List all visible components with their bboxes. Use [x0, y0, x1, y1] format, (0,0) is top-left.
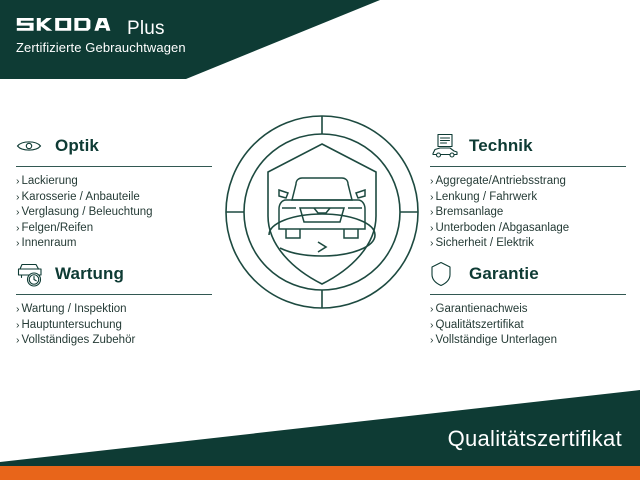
- list-item-label: Hauptuntersuchung: [22, 319, 122, 331]
- section-header-technik: Technik: [430, 131, 626, 161]
- list-item: ›Innenraum: [16, 236, 212, 252]
- column-left-optik: Optik ›Lackierung ›Karosserie / Anbautei…: [16, 131, 212, 252]
- chevron-right-icon: ›: [16, 237, 20, 249]
- list-item: ›Sicherheit / Elektrik: [430, 236, 626, 252]
- section-rule: [430, 294, 626, 295]
- eye-icon: [16, 132, 46, 160]
- certificate-title: Qualitätszertifikat: [448, 426, 622, 452]
- shield-car-circles-emblem: [222, 112, 422, 312]
- list-item: ›Bremsanlage: [430, 205, 626, 221]
- section-title-optik: Optik: [55, 136, 99, 156]
- list-item-label: Garantienachweis: [436, 303, 528, 315]
- certificate-page: Plus Zertifizierte Gebrauchtwagen Optik: [0, 0, 640, 480]
- chevron-right-icon: ›: [16, 175, 20, 187]
- list-item: ›Garantienachweis: [430, 302, 626, 318]
- section-rule: [16, 166, 212, 167]
- list-item: ›Lenkung / Fahrwerk: [430, 190, 626, 206]
- chevron-right-icon: ›: [430, 191, 434, 203]
- list-wartung: ›Wartung / Inspektion ›Hauptuntersuchung…: [16, 302, 212, 349]
- shield-icon: [430, 260, 460, 288]
- list-item: ›Aggregate/Antriebsstrang: [430, 174, 626, 190]
- list-item-label: Felgen/Reifen: [22, 222, 94, 234]
- chevron-right-icon: ›: [16, 303, 20, 315]
- column-right-garantie: Garantie ›Garantienachweis ›Qualitätszer…: [430, 259, 626, 349]
- column-left-wartung: Wartung ›Wartung / Inspektion ›Hauptunte…: [16, 259, 212, 349]
- section-title-garantie: Garantie: [469, 264, 539, 284]
- chevron-right-icon: ›: [430, 334, 434, 346]
- list-item-label: Karosserie / Anbauteile: [22, 191, 140, 203]
- section-header-optik: Optik: [16, 131, 212, 161]
- list-item: ›Vollständiges Zubehör: [16, 333, 212, 349]
- section-wartung: Wartung ›Wartung / Inspektion ›Hauptunte…: [16, 259, 212, 349]
- chevron-right-icon: ›: [430, 319, 434, 331]
- list-item: ›Unterboden /Abgasanlage: [430, 221, 626, 237]
- list-item-label: Vollständiges Zubehör: [22, 334, 136, 346]
- chevron-right-icon: ›: [16, 334, 20, 346]
- chevron-right-icon: ›: [16, 222, 20, 234]
- list-item: ›Wartung / Inspektion: [16, 302, 212, 318]
- list-technik: ›Aggregate/Antriebsstrang ›Lenkung / Fah…: [430, 174, 626, 252]
- section-title-wartung: Wartung: [55, 264, 124, 284]
- section-header-garantie: Garantie: [430, 259, 626, 289]
- chevron-right-icon: ›: [16, 319, 20, 331]
- list-item-label: Aggregate/Antriebsstrang: [436, 175, 566, 187]
- list-item: ›Verglasung / Beleuchtung: [16, 205, 212, 221]
- chevron-right-icon: ›: [16, 191, 20, 203]
- chevron-right-icon: ›: [430, 237, 434, 249]
- chevron-right-icon: ›: [430, 206, 434, 218]
- car-service-icon: [16, 260, 46, 288]
- section-title-technik: Technik: [469, 136, 533, 156]
- section-rule: [430, 166, 626, 167]
- chevron-right-icon: ›: [430, 175, 434, 187]
- brand-suffix: Plus: [127, 19, 165, 38]
- section-rule: [16, 294, 212, 295]
- list-item-label: Vollständige Unterlagen: [436, 334, 557, 346]
- list-item-label: Wartung / Inspektion: [22, 303, 127, 315]
- list-item: ›Hauptuntersuchung: [16, 318, 212, 334]
- chevron-right-icon: ›: [430, 303, 434, 315]
- brand-tagline: Zertifizierte Gebrauchtwagen: [16, 40, 336, 56]
- section-header-wartung: Wartung: [16, 259, 212, 289]
- list-garantie: ›Garantienachweis ›Qualitätszertifikat ›…: [430, 302, 626, 349]
- list-optik: ›Lackierung ›Karosserie / Anbauteile ›Ve…: [16, 174, 212, 252]
- list-item-label: Qualitätszertifikat: [436, 319, 524, 331]
- brand-line-primary: Plus: [16, 14, 336, 36]
- column-right-technik: Technik ›Aggregate/Antriebsstrang ›Lenku…: [430, 131, 626, 252]
- list-item-label: Unterboden /Abgasanlage: [436, 222, 570, 234]
- skoda-wordmark: [16, 14, 120, 39]
- list-item-label: Bremsanlage: [436, 206, 504, 218]
- list-item: ›Felgen/Reifen: [16, 221, 212, 237]
- list-item: ›Vollständige Unterlagen: [430, 333, 626, 349]
- brand-block: Plus Zertifizierte Gebrauchtwagen: [16, 14, 336, 56]
- footer-orange-bar: [0, 466, 640, 480]
- list-item-label: Lenkung / Fahrwerk: [436, 191, 538, 203]
- list-item-label: Verglasung / Beleuchtung: [22, 206, 153, 218]
- list-item: ›Lackierung: [16, 174, 212, 190]
- chevron-right-icon: ›: [16, 206, 20, 218]
- list-item: ›Karosserie / Anbauteile: [16, 190, 212, 206]
- list-item: ›Qualitätszertifikat: [430, 318, 626, 334]
- chevron-right-icon: ›: [430, 222, 434, 234]
- list-item-label: Innenraum: [22, 237, 77, 249]
- section-garantie: Garantie ›Garantienachweis ›Qualitätszer…: [430, 259, 626, 349]
- car-document-icon: [430, 132, 460, 160]
- list-item-label: Lackierung: [22, 175, 78, 187]
- section-optik: Optik ›Lackierung ›Karosserie / Anbautei…: [16, 131, 212, 252]
- section-technik: Technik ›Aggregate/Antriebsstrang ›Lenku…: [430, 131, 626, 252]
- list-item-label: Sicherheit / Elektrik: [436, 237, 534, 249]
